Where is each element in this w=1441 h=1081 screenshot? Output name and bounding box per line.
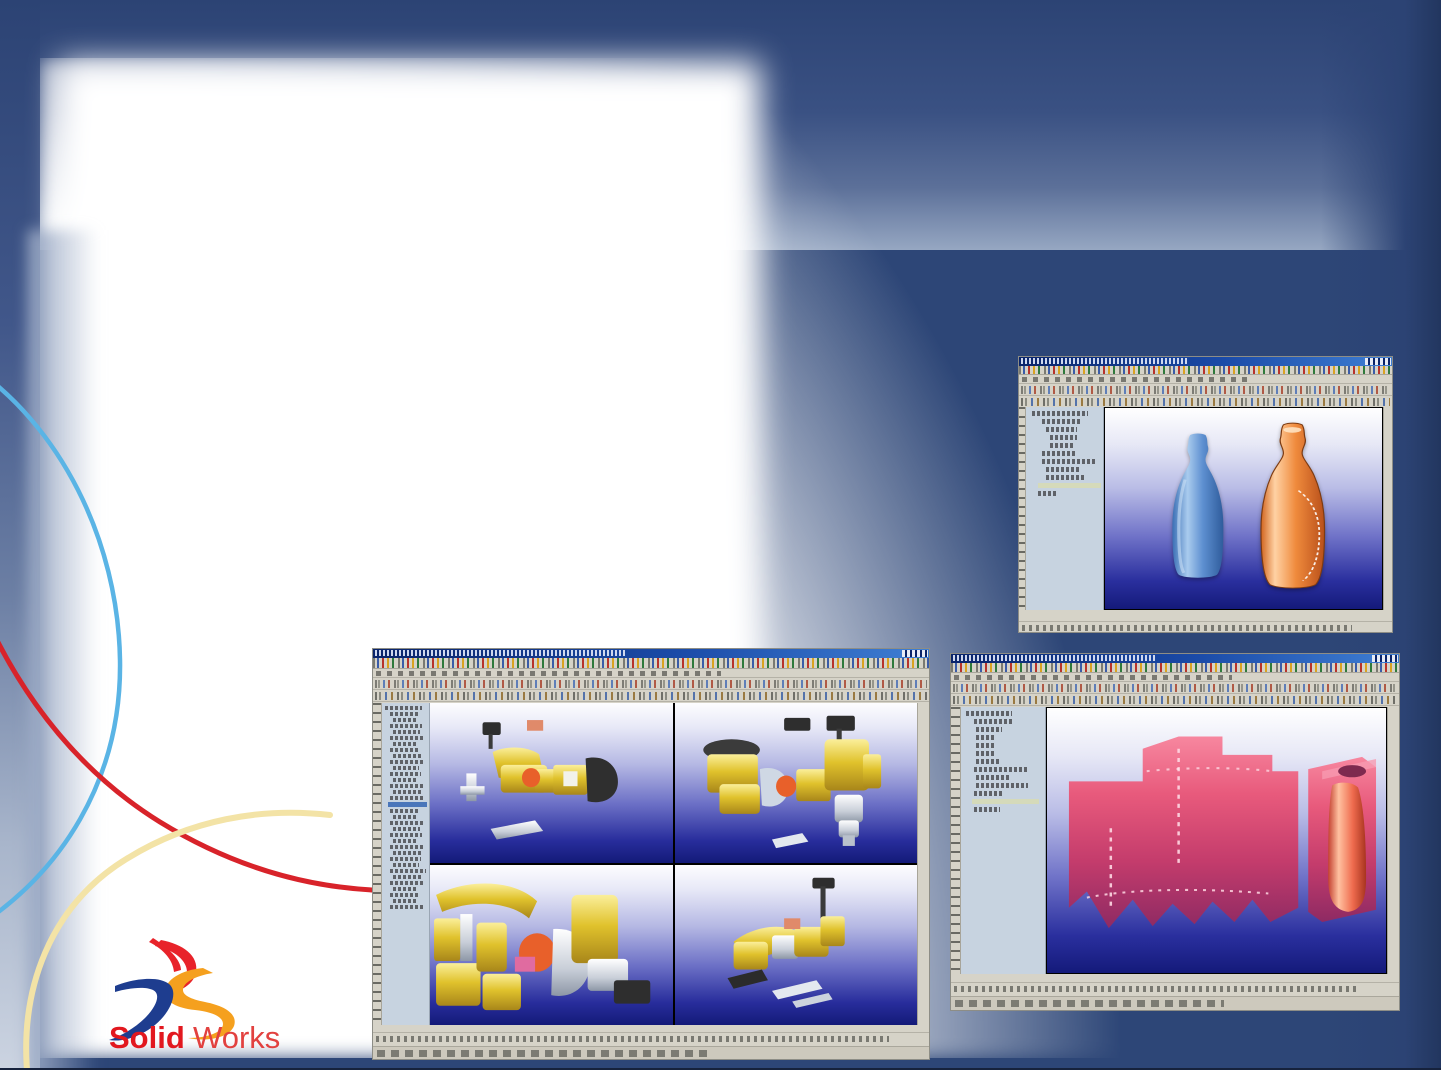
tree-item[interactable] [393, 766, 419, 770]
tree-item[interactable] [390, 857, 421, 861]
windows-taskbar[interactable] [951, 996, 1399, 1010]
title-bar[interactable] [1019, 357, 1392, 366]
tree-item[interactable] [966, 711, 1012, 716]
viewport-top-left[interactable] [430, 703, 673, 863]
robot-cap-model [483, 722, 501, 735]
tree-item[interactable] [1046, 467, 1079, 472]
tree-item[interactable] [1042, 451, 1077, 456]
status-bar [373, 1032, 929, 1046]
work-area [951, 707, 1399, 974]
tree-item[interactable] [390, 760, 424, 764]
mold-tools-toolbar[interactable] [951, 694, 1399, 706]
left-toolbar-rail[interactable] [1019, 407, 1026, 610]
viewport-bottom-right[interactable] [675, 865, 918, 1025]
tree-item[interactable] [1038, 491, 1058, 496]
robot-joint-model [776, 776, 796, 797]
icon-toolbar-row[interactable] [373, 658, 929, 669]
robot-arm-model [430, 703, 673, 863]
right-scroll-rail[interactable] [1383, 407, 1392, 610]
arc-red [0, 550, 372, 890]
window-controls[interactable] [1372, 655, 1398, 662]
tree-item[interactable] [976, 727, 1002, 732]
tree-item[interactable] [393, 827, 420, 831]
solidworks-logo: Solid Works [95, 928, 325, 1053]
tree-item-selected[interactable] [1038, 483, 1101, 488]
left-toolbar-rail[interactable] [951, 707, 961, 974]
robot-base-model [834, 795, 862, 823]
windows-taskbar[interactable] [373, 1046, 929, 1059]
tree-item[interactable] [393, 718, 418, 722]
feature-tree-rows [966, 711, 1042, 954]
standard-toolbar[interactable] [1019, 384, 1392, 396]
tree-item[interactable] [976, 759, 999, 764]
graphics-viewport[interactable] [430, 703, 917, 1025]
tree-item[interactable] [1050, 443, 1073, 448]
tree-item[interactable] [976, 751, 994, 756]
robot-assembly-window[interactable] [372, 648, 930, 1060]
tree-item[interactable] [390, 905, 425, 909]
window-controls[interactable] [1365, 358, 1391, 365]
graphics-viewport[interactable] [1046, 707, 1387, 974]
status-bar [1019, 621, 1392, 632]
feature-tree-panel[interactable] [961, 707, 1046, 974]
tree-item[interactable] [393, 863, 419, 867]
window-title [953, 655, 1155, 661]
tree-item[interactable] [393, 887, 417, 891]
tree-item[interactable] [1050, 435, 1077, 440]
tree-item[interactable] [974, 807, 1000, 812]
tree-item[interactable] [390, 748, 420, 752]
menu-bar[interactable] [951, 673, 1399, 682]
standard-toolbar[interactable] [373, 678, 929, 690]
feature-tree-panel[interactable] [382, 703, 430, 1025]
viewport-top-right[interactable] [675, 703, 918, 863]
tree-item[interactable] [1032, 411, 1088, 416]
tree-item[interactable] [390, 784, 425, 788]
robot-joint-model [522, 768, 540, 787]
orange-bottle-model[interactable] [1255, 422, 1330, 591]
presentation-slide: Solid Works [0, 0, 1441, 1081]
tree-item[interactable] [393, 815, 418, 819]
tree-item[interactable] [976, 783, 1028, 788]
mold-cavity-window[interactable] [950, 653, 1400, 1011]
tree-item-selected[interactable] [388, 802, 427, 807]
status-bar [951, 982, 1399, 996]
tree-item[interactable] [390, 796, 423, 800]
wordmark-works: Works [193, 1020, 280, 1053]
standard-toolbar[interactable] [951, 682, 1399, 694]
feature-tree-rows [385, 706, 427, 1011]
robot-cap-model [784, 718, 810, 731]
tree-item[interactable] [393, 790, 422, 794]
assembly-toolbar[interactable] [373, 690, 929, 702]
mold-block-model[interactable] [1047, 708, 1386, 973]
tree-item[interactable] [390, 724, 422, 728]
tree-item[interactable] [385, 706, 422, 710]
tree-item[interactable] [390, 809, 419, 813]
tree-item[interactable] [1042, 419, 1081, 424]
tree-item[interactable] [390, 712, 419, 716]
window-title [1021, 358, 1189, 364]
tree-item[interactable] [393, 899, 418, 903]
tree-item[interactable] [390, 893, 420, 897]
arc-blue [0, 365, 120, 928]
graphics-viewport[interactable] [1104, 407, 1383, 610]
four-view-split [430, 703, 917, 1025]
menu-bar[interactable] [1019, 375, 1392, 384]
window-controls[interactable] [902, 650, 928, 657]
title-bar[interactable] [373, 649, 929, 658]
right-scroll-rail[interactable] [1387, 707, 1399, 974]
tree-item-selected[interactable] [972, 799, 1039, 804]
right-scroll-rail[interactable] [917, 703, 929, 1025]
tree-item[interactable] [976, 735, 996, 740]
robot-arm-model [675, 703, 918, 863]
mold-bottle-core-model [1308, 757, 1376, 922]
tree-item[interactable] [390, 881, 423, 885]
work-area [1019, 407, 1392, 610]
tree-item[interactable] [390, 772, 421, 776]
tree-item[interactable] [393, 778, 417, 782]
tree-item[interactable] [976, 743, 996, 748]
tree-item[interactable] [393, 742, 417, 746]
robot-joint-model [784, 918, 800, 929]
title-bar[interactable] [951, 654, 1399, 663]
bottle-parts-window[interactable] [1018, 356, 1393, 633]
slide-bottom-rule [0, 1068, 1441, 1081]
feature-tree-rows [1032, 411, 1100, 592]
tree-item[interactable] [390, 869, 426, 873]
robot-cap-model [614, 980, 650, 1003]
window-title [375, 650, 625, 656]
tree-item[interactable] [974, 719, 1014, 724]
robot-arm-model [675, 865, 918, 1025]
blue-bottle-model[interactable] [1166, 432, 1230, 581]
tree-item[interactable] [393, 754, 421, 758]
menu-bar[interactable] [373, 669, 929, 678]
tree-item[interactable] [1042, 459, 1095, 464]
tree-item[interactable] [1046, 427, 1077, 432]
feature-tree-panel[interactable] [1026, 407, 1104, 610]
tree-item[interactable] [1046, 475, 1084, 480]
tree-item[interactable] [390, 833, 422, 837]
tree-item[interactable] [390, 821, 424, 825]
wordmark-solid: Solid [109, 1020, 185, 1053]
tree-item[interactable] [390, 736, 424, 740]
robot-base-model [491, 820, 544, 839]
tree-item[interactable] [390, 845, 424, 849]
tree-item[interactable] [393, 875, 422, 879]
tree-item[interactable] [974, 767, 1029, 772]
tree-item[interactable] [976, 775, 1011, 780]
tree-item[interactable] [974, 791, 1004, 796]
tree-item[interactable] [393, 839, 417, 843]
tree-item[interactable] [393, 851, 421, 855]
viewport-bottom-left[interactable] [430, 865, 673, 1025]
work-area [373, 703, 929, 1025]
icon-toolbar-row[interactable] [951, 663, 1399, 673]
tree-item[interactable] [393, 730, 420, 734]
left-toolbar-rail[interactable] [373, 703, 382, 1025]
icon-toolbar-row[interactable] [1019, 366, 1392, 375]
robot-arm-model [430, 865, 673, 1025]
